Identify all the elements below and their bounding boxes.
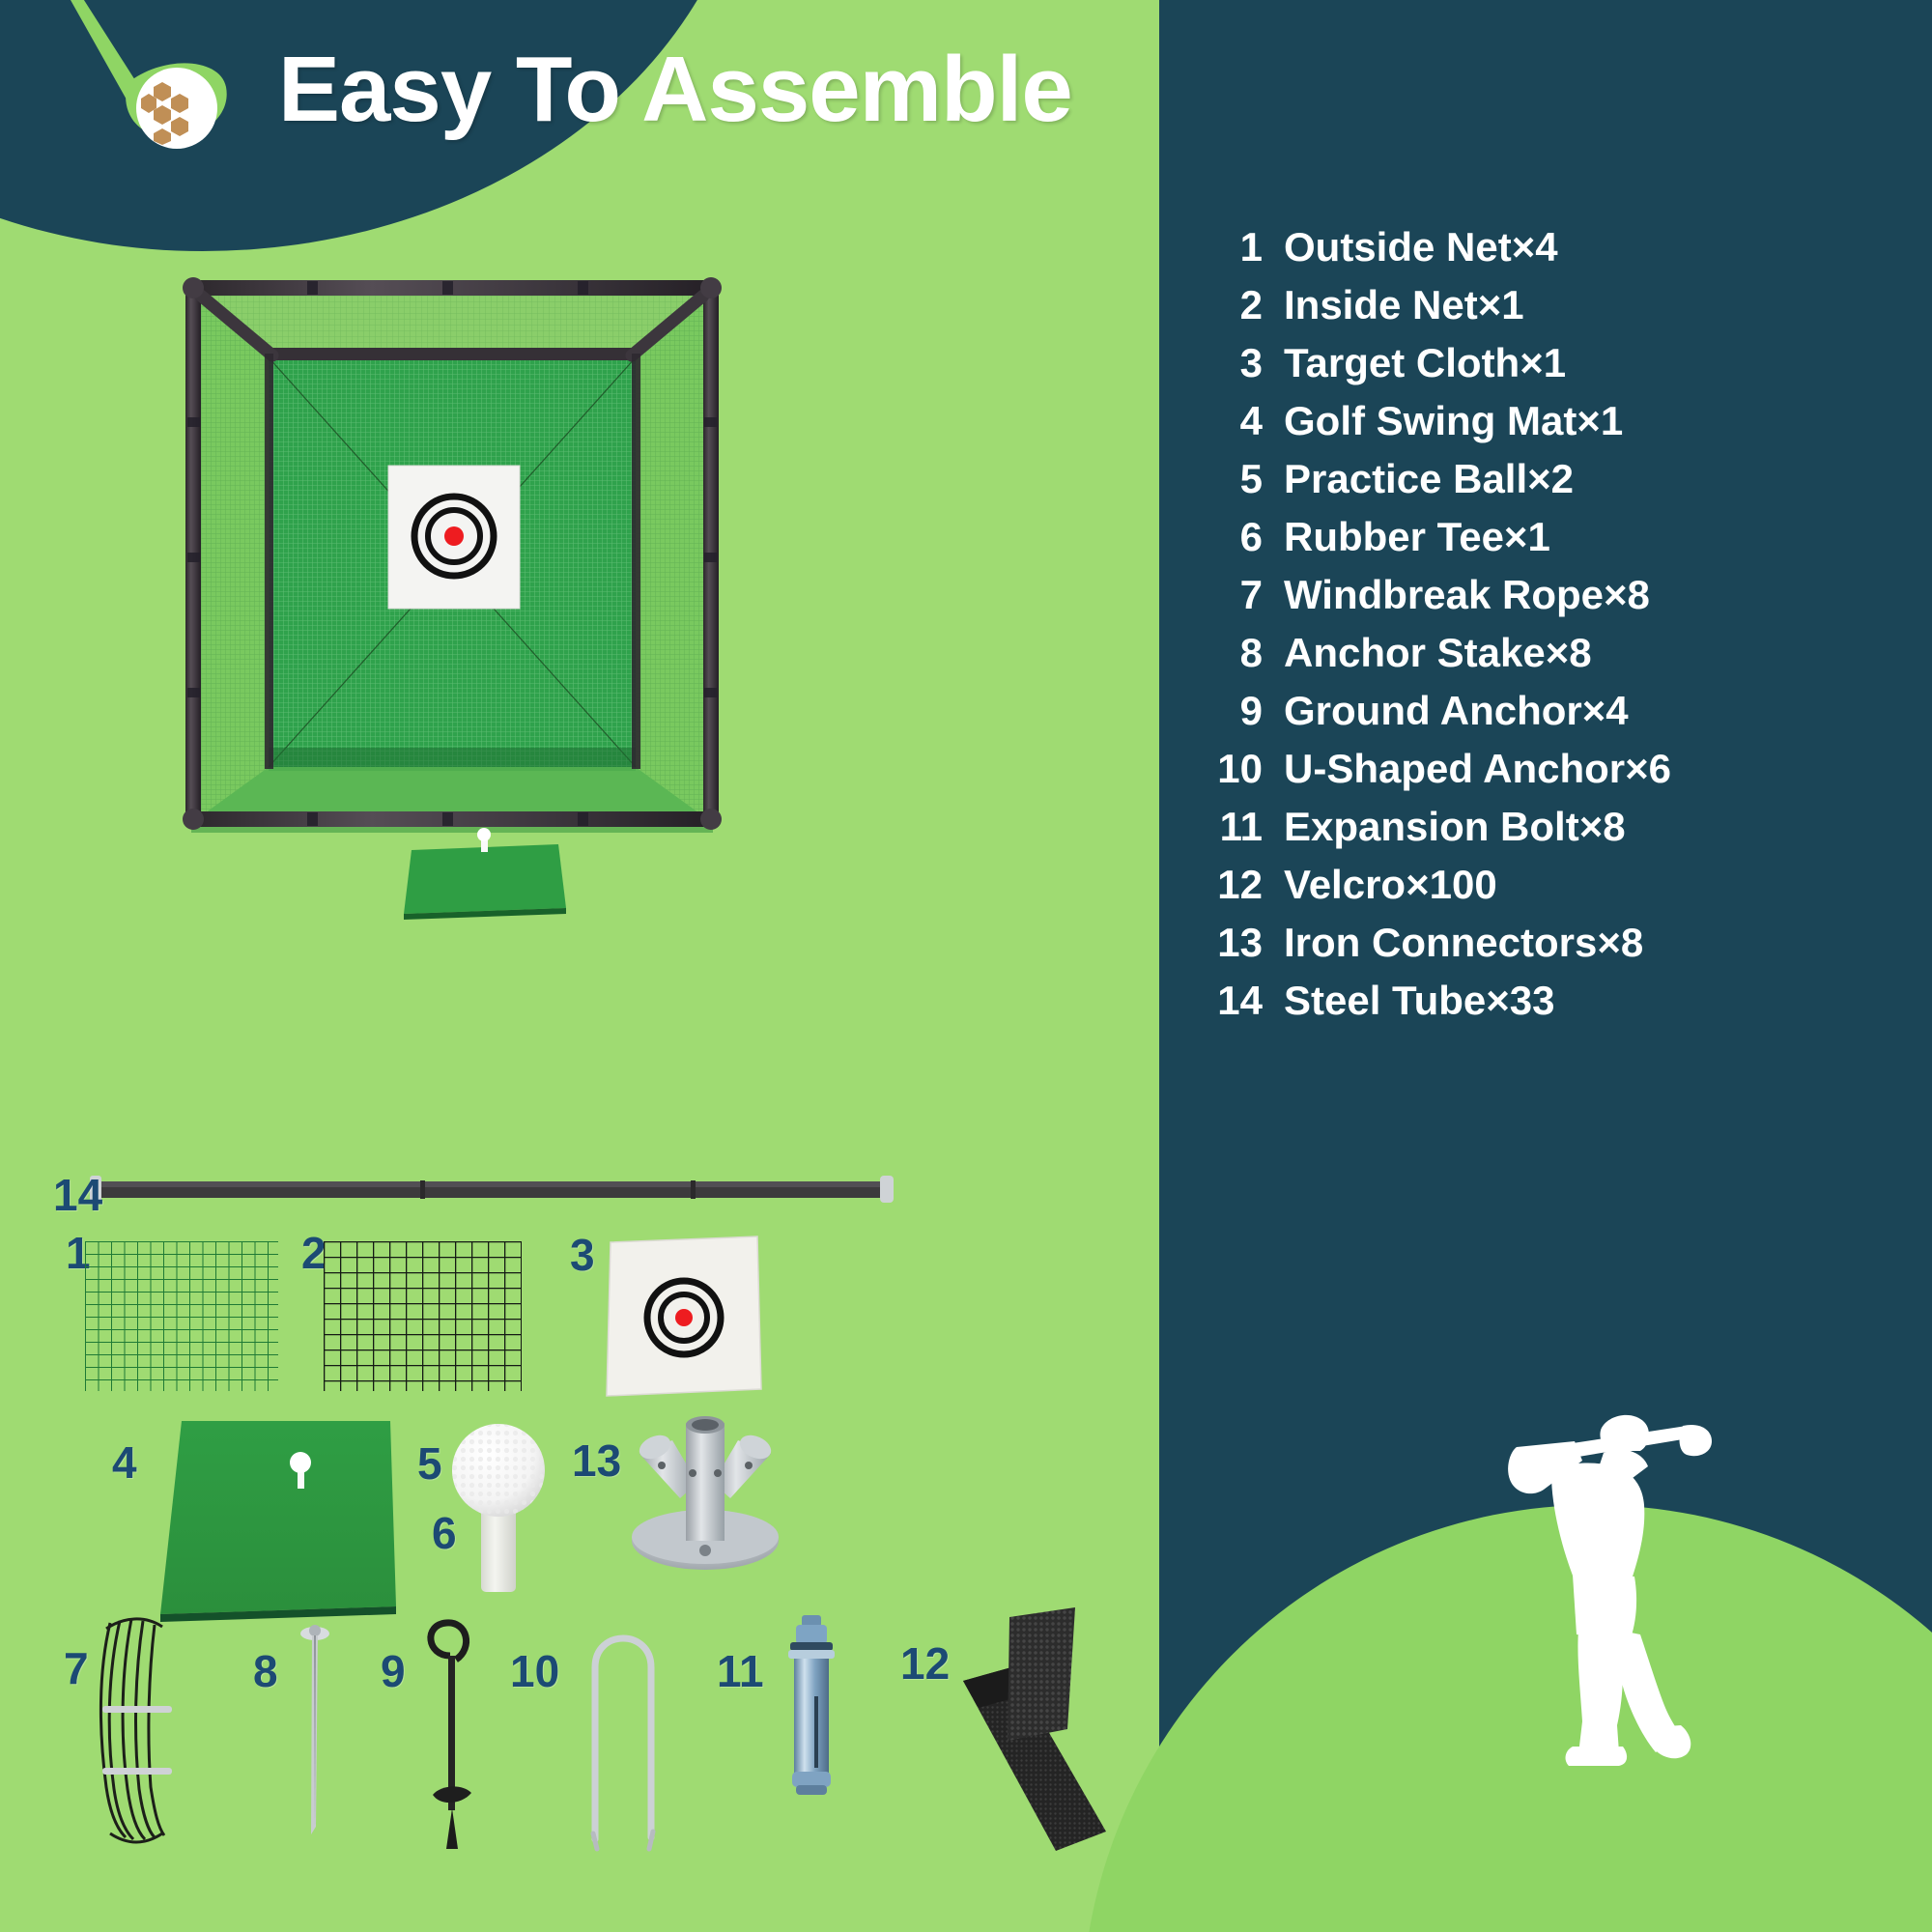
velcro-part [952, 1604, 1125, 1864]
parts-item-label: Practice Ball×2 [1284, 456, 1574, 502]
parts-item-number: 8 [1212, 630, 1284, 676]
inside-net-swatch [324, 1241, 522, 1391]
parts-list-item: 5 Practice Ball×2 [1212, 456, 1918, 514]
swing-mat-under-cage [404, 833, 558, 908]
parts-item-number: 13 [1212, 920, 1284, 966]
callout-10-u-shaped-anchor: 10 [510, 1645, 559, 1697]
parts-item-number: 3 [1212, 340, 1284, 386]
parts-list-item: 14 Steel Tube×33 [1212, 978, 1918, 1036]
parts-list-item: 4 Golf Swing Mat×1 [1212, 398, 1918, 456]
parts-item-number: 2 [1212, 282, 1284, 328]
parts-item-label: Windbreak Rope×8 [1284, 572, 1650, 618]
parts-list-item: 9 Ground Anchor×4 [1212, 688, 1918, 746]
target-cloth-part [607, 1236, 761, 1396]
callout-11-expansion-bolt: 11 [717, 1645, 764, 1697]
parts-item-number: 7 [1212, 572, 1284, 618]
parts-list-item: 8 Anchor Stake×8 [1212, 630, 1918, 688]
parts-item-number: 4 [1212, 398, 1284, 444]
anchor-stake-part [282, 1618, 350, 1850]
parts-list-item: 2 Inside Net×1 [1212, 282, 1918, 340]
parts-item-label: Inside Net×1 [1284, 282, 1524, 328]
parts-list-item: 3 Target Cloth×1 [1212, 340, 1918, 398]
parts-list-item: 7 Windbreak Rope×8 [1212, 572, 1918, 630]
parts-list-item: 11 Expansion Bolt×8 [1212, 804, 1918, 862]
parts-item-label: Target Cloth×1 [1284, 340, 1566, 386]
infographic-canvas: Easy To Assemble [0, 0, 1932, 1932]
parts-list-item: 12 Velcro×100 [1212, 862, 1918, 920]
parts-item-label: Expansion Bolt×8 [1284, 804, 1626, 850]
callout-13-iron-connector: 13 [572, 1435, 621, 1487]
page-title: Easy To Assemble [278, 37, 1072, 143]
parts-item-number: 1 [1212, 224, 1284, 270]
parts-item-number: 9 [1212, 688, 1284, 734]
parts-item-number: 6 [1212, 514, 1284, 560]
golf-club-and-ball-icon [19, 0, 280, 184]
callout-2-inside-net: 2 [301, 1227, 327, 1279]
callout-5-practice-ball: 5 [417, 1437, 442, 1490]
callout-14-steel-tube: 14 [53, 1169, 102, 1221]
practice-ball-and-rubber-tee-part [450, 1420, 556, 1594]
ground-anchor-part [413, 1615, 491, 1857]
parts-item-number: 11 [1212, 804, 1284, 850]
golf-swing-mat-part [155, 1415, 396, 1623]
parts-list-item: 1 Outside Net×4 [1212, 224, 1918, 282]
parts-item-label: Ground Anchor×4 [1284, 688, 1629, 734]
parts-item-number: 10 [1212, 746, 1284, 792]
golfer-silhouette [1459, 1381, 1768, 1787]
parts-item-label: Anchor Stake×8 [1284, 630, 1592, 676]
parts-item-label: Outside Net×4 [1284, 224, 1558, 270]
parts-item-label: Rubber Tee×1 [1284, 514, 1550, 560]
parts-item-number: 5 [1212, 456, 1284, 502]
callout-9-ground-anchor: 9 [381, 1645, 406, 1697]
callout-3-target-cloth: 3 [570, 1229, 595, 1281]
parts-list: 1 Outside Net×4 2 Inside Net×1 3 Target … [1212, 224, 1918, 1036]
parts-item-label: Steel Tube×33 [1284, 978, 1555, 1024]
callout-4-swing-mat: 4 [112, 1436, 137, 1489]
parts-item-number: 12 [1212, 862, 1284, 908]
parts-item-label: Golf Swing Mat×1 [1284, 398, 1623, 444]
parts-item-number: 14 [1212, 978, 1284, 1024]
golf-practice-cage-illustration [172, 272, 732, 833]
steel-tube-part [53, 1164, 913, 1222]
parts-item-label: Iron Connectors×8 [1284, 920, 1643, 966]
parts-list-item: 6 Rubber Tee×1 [1212, 514, 1918, 572]
parts-list-item: 10 U-Shaped Anchor×6 [1212, 746, 1918, 804]
callout-12-velcro: 12 [900, 1637, 950, 1690]
expansion-bolt-part [773, 1613, 850, 1806]
parts-list-item: 13 Iron Connectors×8 [1212, 920, 1918, 978]
callout-8-anchor-stake: 8 [253, 1645, 278, 1697]
iron-connector-part [618, 1406, 792, 1599]
outside-net-swatch [85, 1241, 278, 1391]
u-shaped-anchor-part [580, 1611, 667, 1853]
parts-item-label: U-Shaped Anchor×6 [1284, 746, 1671, 792]
parts-item-label: Velcro×100 [1284, 862, 1497, 908]
windbreak-rope-part [81, 1613, 187, 1845]
